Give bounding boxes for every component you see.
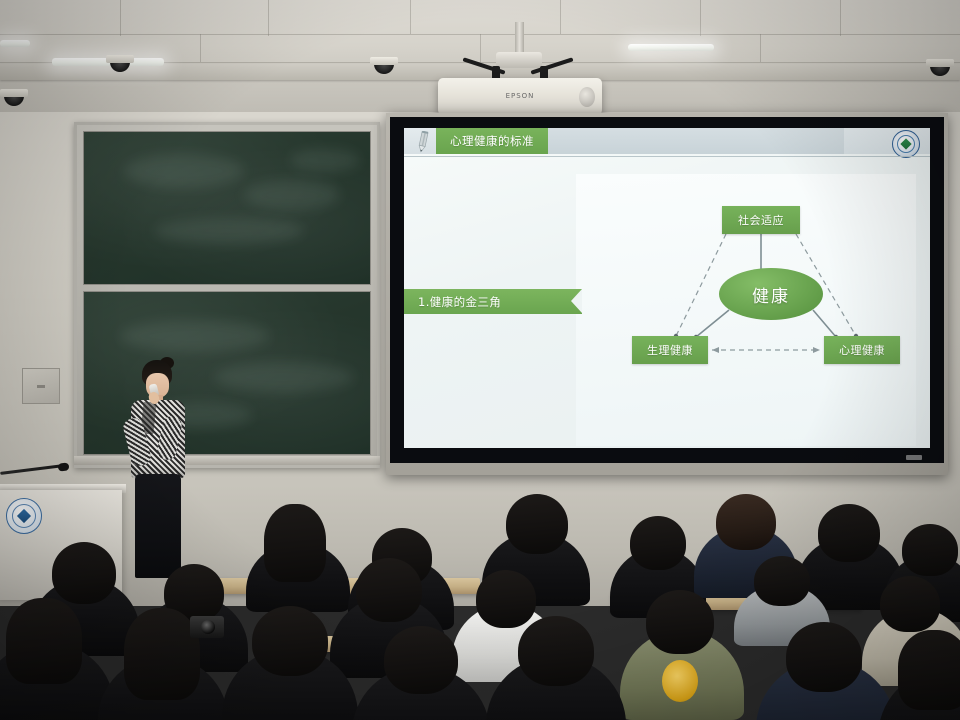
audience-head: [630, 516, 686, 570]
projector: EPSON: [438, 78, 602, 118]
blackboard-panel-upper: [83, 131, 371, 285]
classroom-scene: EPSON 心理健康的标准: [0, 0, 960, 720]
projector-mount-bracket: [496, 52, 542, 68]
audience-head: [518, 616, 594, 686]
ceiling-light-center: [628, 44, 714, 51]
audience-head: [124, 608, 200, 700]
slide-header-bar-inner: [544, 128, 844, 154]
slide-title-box: 心理健康的标准: [436, 128, 548, 154]
slide-header-rule: [404, 156, 930, 157]
diagram-node-social-label: 社会适应: [738, 212, 784, 228]
handheld-camera-icon: [190, 616, 224, 638]
wall-panel-box: [22, 368, 60, 404]
audience-head: [52, 542, 116, 604]
pencil-icon: [416, 131, 430, 153]
audience-head: [818, 504, 880, 562]
audience-head: [6, 598, 82, 684]
audience-head: [356, 558, 422, 622]
slide-title: 心理健康的标准: [450, 133, 534, 149]
screen-brand-mark: [906, 455, 922, 460]
projector-brand-label: EPSON: [438, 92, 602, 100]
audience: [0, 480, 960, 720]
diagram-center-label: 健康: [752, 282, 790, 307]
audience-head: [716, 494, 776, 550]
jacket-logo-icon: [662, 660, 698, 702]
audience-head: [252, 606, 328, 676]
audience-head: [384, 626, 458, 694]
presentation-slide[interactable]: 心理健康的标准: [404, 128, 930, 448]
audience-head: [646, 590, 714, 654]
audience-head: [264, 504, 326, 582]
diagram-node-mental-health: 心理健康: [824, 336, 900, 364]
projector-mount-pole: [515, 22, 524, 56]
diagram-node-social-adaptation: 社会适应: [722, 206, 800, 234]
diagram-node-mental-label: 心理健康: [839, 342, 885, 358]
ceiling-light-right: [0, 40, 30, 47]
audience-head: [754, 556, 810, 606]
diagram-node-physical-health: 生理健康: [632, 336, 708, 364]
section-banner: 1.健康的金三角: [404, 289, 582, 314]
audience-head: [902, 524, 958, 576]
projector-lens: [579, 87, 595, 107]
diagram-center-health: 健康: [719, 268, 823, 320]
diagram-node-physical-label: 生理健康: [647, 342, 693, 358]
audience-head: [476, 570, 536, 628]
audience-head: [898, 630, 960, 710]
section-banner-label: 1.健康的金三角: [404, 294, 501, 310]
university-seal-icon: [892, 130, 920, 158]
audience-head: [786, 622, 862, 692]
slide-header: 心理健康的标准: [404, 128, 930, 158]
audience-head: [880, 576, 940, 632]
dome-camera-far-left: [4, 96, 24, 106]
audience-head: [506, 494, 568, 554]
